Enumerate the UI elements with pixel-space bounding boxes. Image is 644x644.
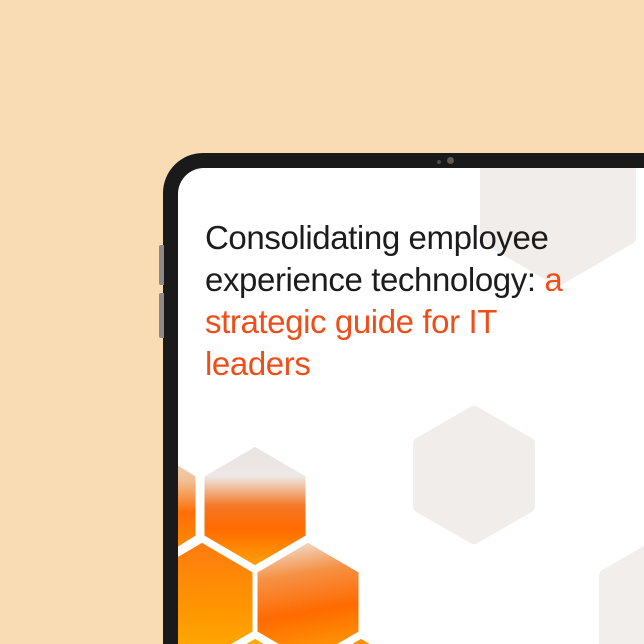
tablet-screen[interactable]: Consolidating employee experience techno…: [178, 168, 644, 644]
front-camera-icon: [447, 157, 454, 164]
ambient-sensor-icon: [437, 160, 441, 164]
hex-bottom-right-corner: [606, 538, 644, 644]
screenshot-canvas: Consolidating employee experience techno…: [0, 0, 644, 644]
cover-title-primary: Consolidating employee experience techno…: [205, 219, 548, 298]
hex-center-right: [420, 413, 528, 537]
cover-title: Consolidating employee experience techno…: [205, 217, 565, 385]
volume-up-button[interactable]: [159, 245, 164, 285]
volume-down-button[interactable]: [159, 293, 164, 338]
tablet-device: Consolidating employee experience techno…: [163, 153, 644, 644]
